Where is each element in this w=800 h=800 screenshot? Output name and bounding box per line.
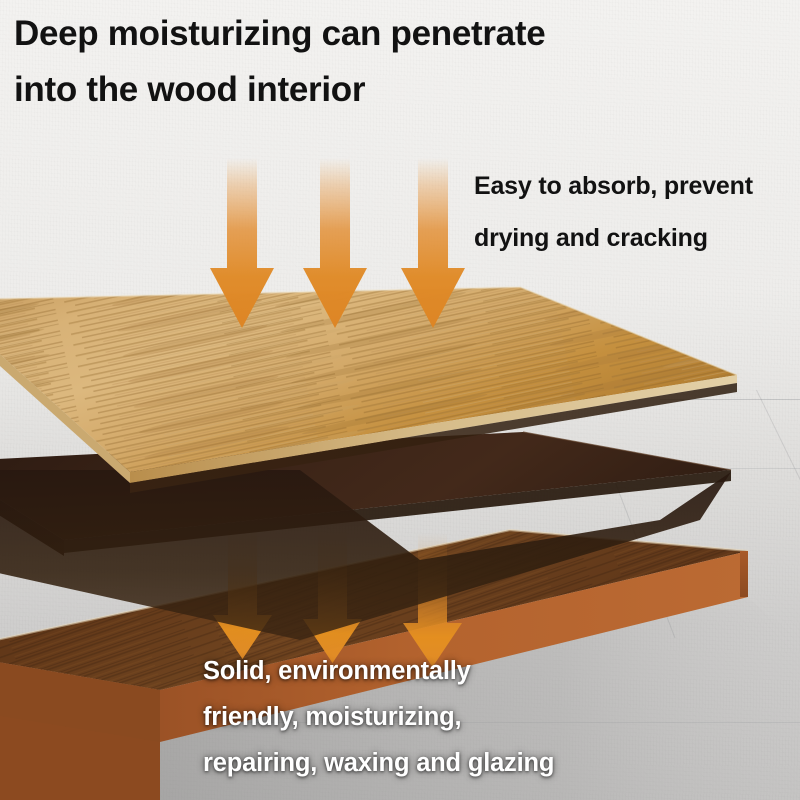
page-title: Deep moisturizing can penetrate into the… (14, 6, 714, 118)
infographic-canvas: Deep moisturizing can penetrate into the… (0, 0, 800, 800)
callout-easy-absorb: Easy to absorb, prevent drying and crack… (474, 160, 800, 264)
upper-arrow-group (210, 158, 465, 328)
callout-solid-eco: Solid, environmentally friendly, moistur… (203, 648, 623, 786)
